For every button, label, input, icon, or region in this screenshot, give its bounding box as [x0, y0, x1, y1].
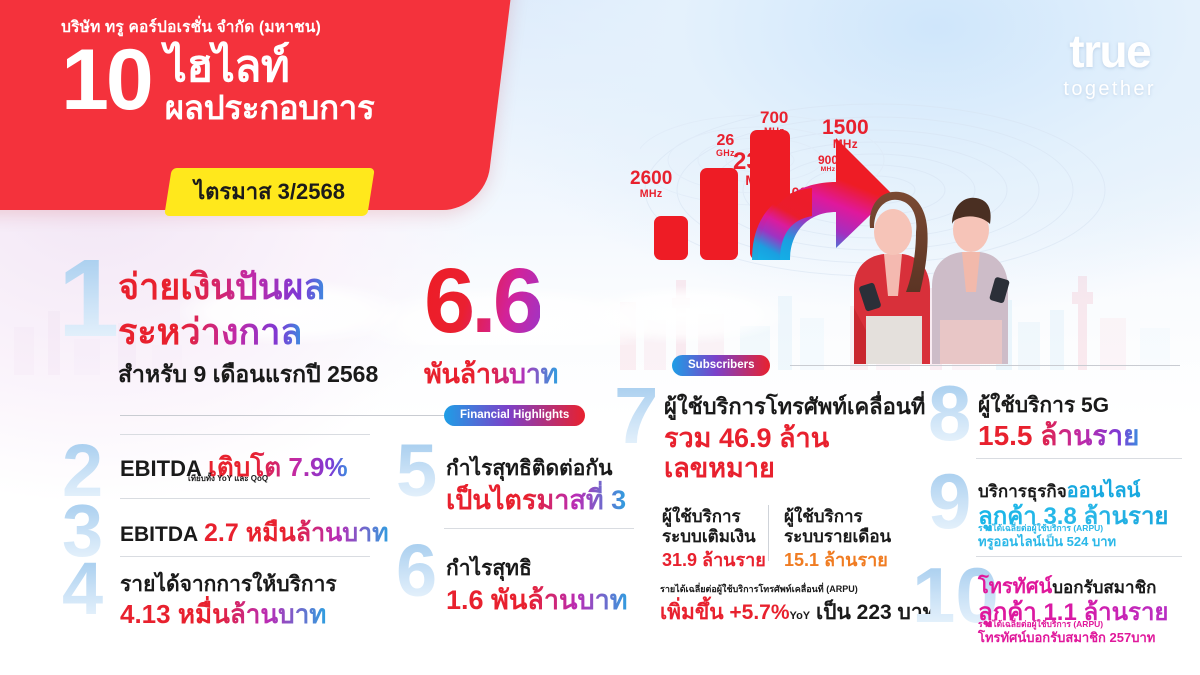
item-number-4: 4: [62, 558, 103, 621]
item-7-prepaid-value: 31.9 ล้านราย: [662, 545, 766, 574]
item-6-value: 1.6 พันล้านบาท: [446, 578, 628, 621]
item-7-arpu-up: เพิ่มขึ้น +5.7%: [660, 601, 790, 624]
item-2-note: เทียบทั้ง YoY และ QoQ: [188, 472, 268, 485]
item-number-5: 5: [396, 440, 437, 503]
item-7-arpu-row: เพิ่มขึ้น +5.7%YoY เป็น 223 บาท: [660, 596, 937, 629]
item-8-value: 15.5 ล้านราย: [978, 414, 1139, 458]
header-title-line1: ไฮไลท์: [165, 45, 375, 89]
person-man: [932, 198, 1010, 364]
quarter-badge-label: ไตรมาส 3/2568: [194, 174, 345, 209]
item-4-value: 4.13 หมื่นล้านบาท: [120, 594, 326, 635]
header-title-line2: ผลประกอบการ: [165, 89, 375, 127]
item-9-note2: ทรูออนไลน์เป็น 524 บาท: [978, 531, 1116, 552]
financial-badge-rule: [120, 415, 444, 416]
item-3-row: EBITDA 2.7 หมื่นล้านบาท: [120, 513, 389, 553]
subscribers-label: Subscribers: [688, 359, 754, 371]
item-3-value: 2.7 หมื่นล้านบาท: [204, 519, 389, 547]
item-10-note2: โทรทัศน์บอกรับสมาชิก 257บาท: [978, 627, 1155, 648]
featured-unit: พันล้านบาท: [424, 352, 558, 395]
brand-tagline: together: [1063, 78, 1156, 101]
highlight-count: 10: [61, 41, 151, 120]
financial-highlights-badge: Financial Highlights: [444, 405, 585, 426]
item-7-postpaid-value: 15.1 ล้านราย: [784, 545, 888, 574]
prepaid-postpaid-divider: [768, 505, 769, 561]
item-3-label: EBITDA: [120, 523, 198, 546]
subscribers-badge: Subscribers: [672, 355, 770, 376]
item-7-arpu-note: รายได้เฉลี่ยต่อผู้ใช้บริการโทรศัพท์เคลื่…: [660, 582, 858, 596]
subscribers-badge-rule: [790, 365, 1180, 366]
item-number-6: 6: [396, 540, 437, 603]
rule-item-9: [976, 458, 1182, 459]
rule-item-10: [976, 556, 1182, 557]
rule-item-6: [444, 528, 634, 529]
item-number-9: 9: [928, 468, 971, 534]
item-1-line3: สำหรับ 9 เดือนแรกปี 2568: [118, 357, 378, 393]
rule-item-3: [120, 498, 370, 499]
growth-arrow-graphic: [640, 120, 1200, 370]
item-number-8: 8: [928, 380, 971, 446]
featured-number: 6.6: [424, 258, 540, 345]
rule-item-2: [120, 434, 370, 435]
quarter-badge: ไตรมาส 3/2568: [164, 168, 374, 216]
rule-item-4: [120, 556, 370, 557]
infographic-canvas: บริษัท ทรู คอร์ปอเรชั่น จำกัด (มหาชน) 10…: [0, 0, 1200, 675]
item-number-1: 1: [58, 252, 119, 346]
item-5-value: เป็นไตรมาสที่ 3: [446, 478, 626, 521]
brand-name: true: [1063, 28, 1156, 74]
item-number-7: 7: [614, 382, 659, 450]
item-1-line2: ระหว่างกาล: [118, 303, 302, 360]
item-7-arpu-yoy: YoY: [790, 610, 811, 622]
financial-highlights-label: Financial Highlights: [460, 409, 569, 421]
true-logo: true together: [1063, 28, 1156, 101]
item-7-value-line2: เลขหมาย: [664, 446, 775, 489]
